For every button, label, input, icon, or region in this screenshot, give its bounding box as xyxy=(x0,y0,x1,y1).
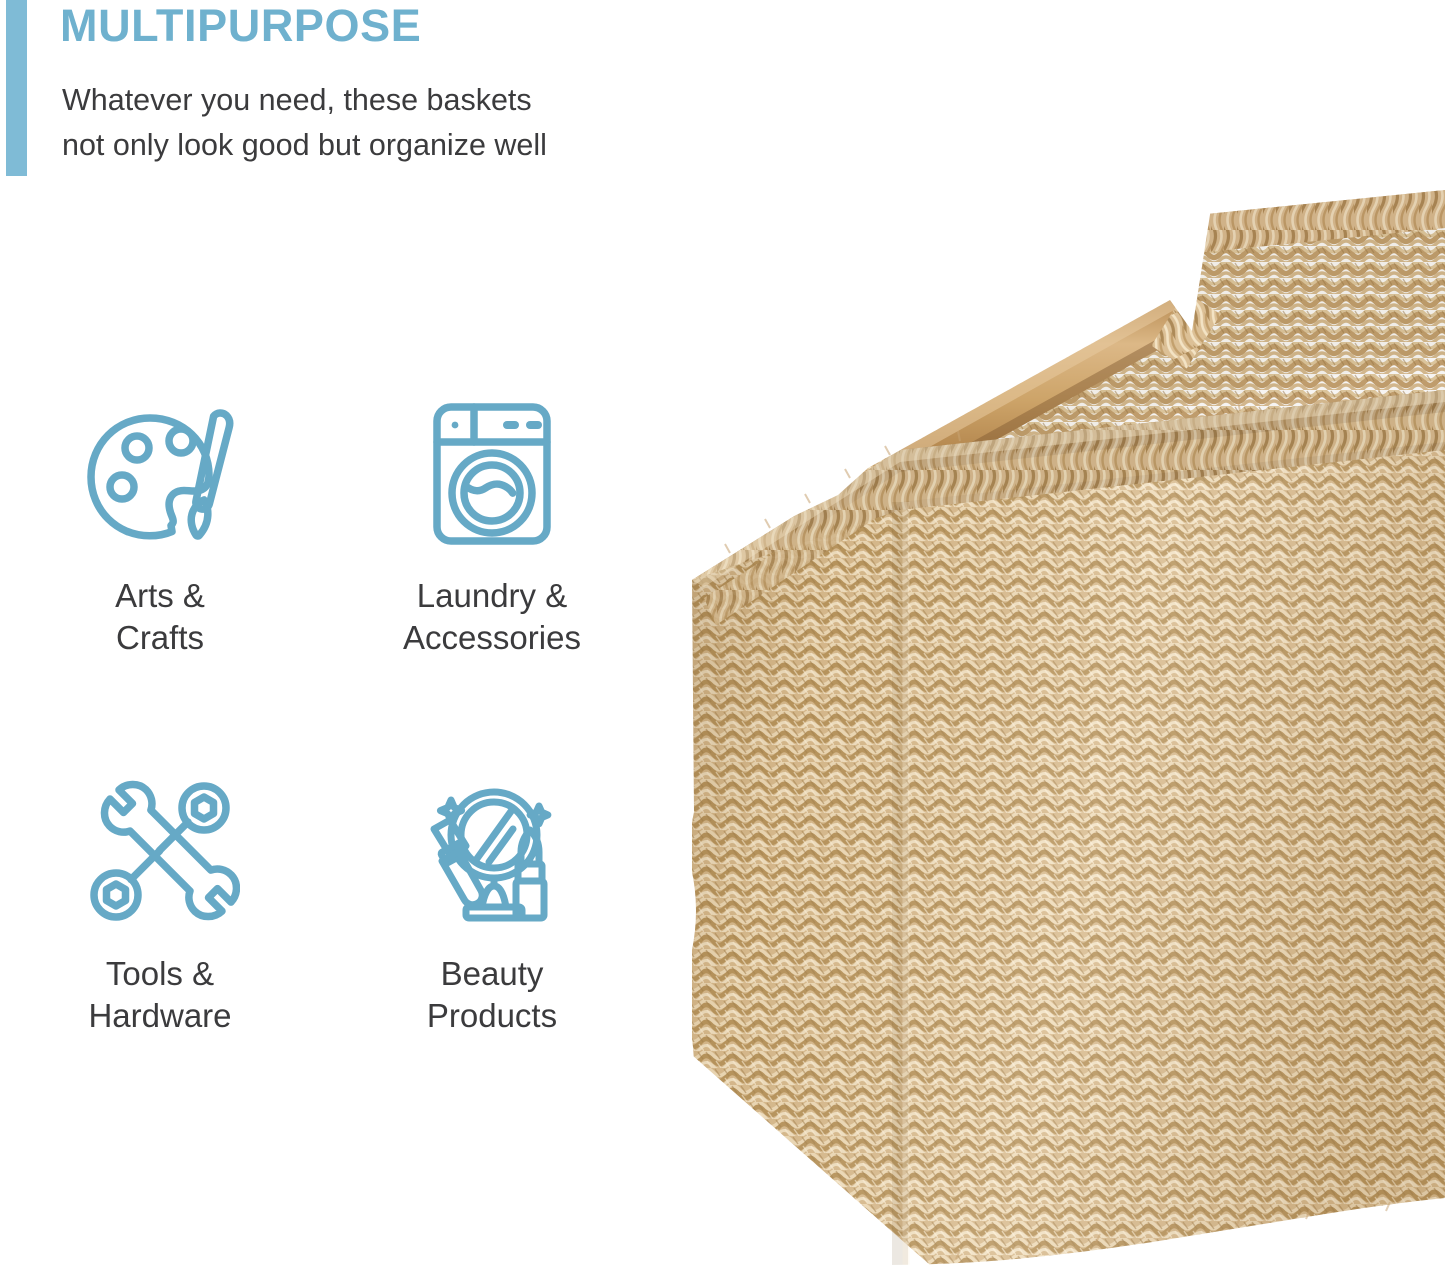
vanity-mirror-makeup-icon xyxy=(412,773,572,931)
feature-grid: Arts & Crafts Laundry & xyxy=(0,395,640,1095)
feature-label-tools-hardware: Tools & Hardware xyxy=(0,953,320,1037)
feature-label-line-2: Hardware xyxy=(0,995,320,1037)
feature-item-tools-hardware: Tools & Hardware xyxy=(0,773,320,1068)
washing-machine-icon xyxy=(412,395,572,553)
product-photo-woven-basket xyxy=(600,150,1445,1265)
page-title: MULTIPURPOSE xyxy=(60,2,421,49)
paint-palette-icon xyxy=(80,395,240,553)
feature-label-line-2: Crafts xyxy=(0,617,320,659)
feature-item-arts-crafts: Arts & Crafts xyxy=(0,395,320,690)
feature-label-line-1: Arts & xyxy=(0,575,320,617)
subtitle-line-1: Whatever you need, these baskets xyxy=(62,78,722,123)
accent-bar xyxy=(6,0,27,176)
feature-label-line-1: Tools & xyxy=(0,953,320,995)
product-infographic: MULTIPURPOSE Whatever you need, these ba… xyxy=(0,0,1445,1265)
feature-label-arts-crafts: Arts & Crafts xyxy=(0,575,320,659)
crossed-wrenches-icon xyxy=(80,773,240,931)
